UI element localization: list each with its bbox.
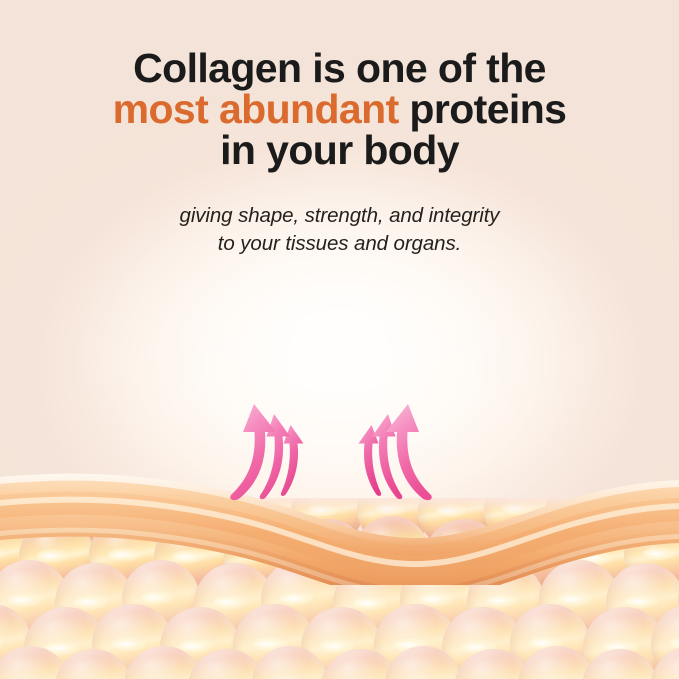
collagen-sphere-field [0,498,679,679]
headline-line-2: most abundant proteins [0,89,679,130]
headline-line-1: Collagen is one of the [0,48,679,89]
subtitle-line-2: to your tissues and organs. [0,230,679,258]
text-block: Collagen is one of the most abundant pro… [0,48,679,258]
headline-accent-text: most abundant [113,86,399,132]
headline-line-2-rest: proteins [399,86,567,132]
headline-line-3: in your body [0,130,679,171]
subtitle-line-1: giving shape, strength, and integrity [0,202,679,230]
page-title: Collagen is one of the most abundant pro… [0,48,679,171]
collagen-infographic-poster: Collagen is one of the most abundant pro… [0,0,679,679]
subtitle: giving shape, strength, and integrity to… [0,171,679,258]
